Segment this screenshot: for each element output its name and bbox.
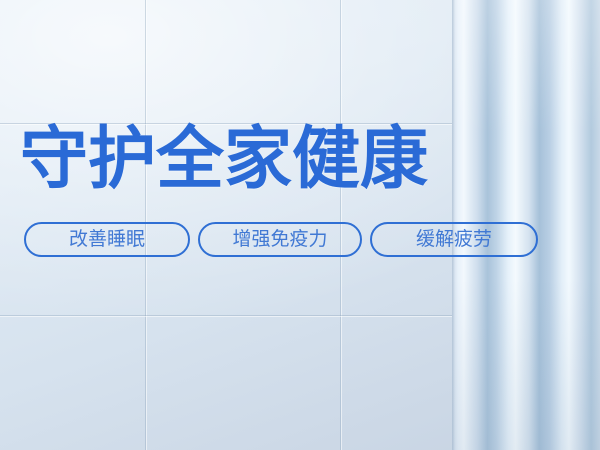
banner-content: 守护全家健康 改善睡眠 增强免疫力 缓解疲劳 [0, 0, 600, 450]
headline-text: 守护全家健康 [20, 122, 440, 196]
banner-stage: 守护全家健康 改善睡眠 增强免疫力 缓解疲劳 [0, 0, 600, 450]
tag-list: 改善睡眠 增强免疫力 缓解疲劳 [24, 222, 538, 257]
tag-improve-sleep[interactable]: 改善睡眠 [24, 222, 190, 257]
tag-boost-immunity[interactable]: 增强免疫力 [198, 222, 362, 257]
tag-relieve-fatigue[interactable]: 缓解疲劳 [370, 222, 538, 257]
